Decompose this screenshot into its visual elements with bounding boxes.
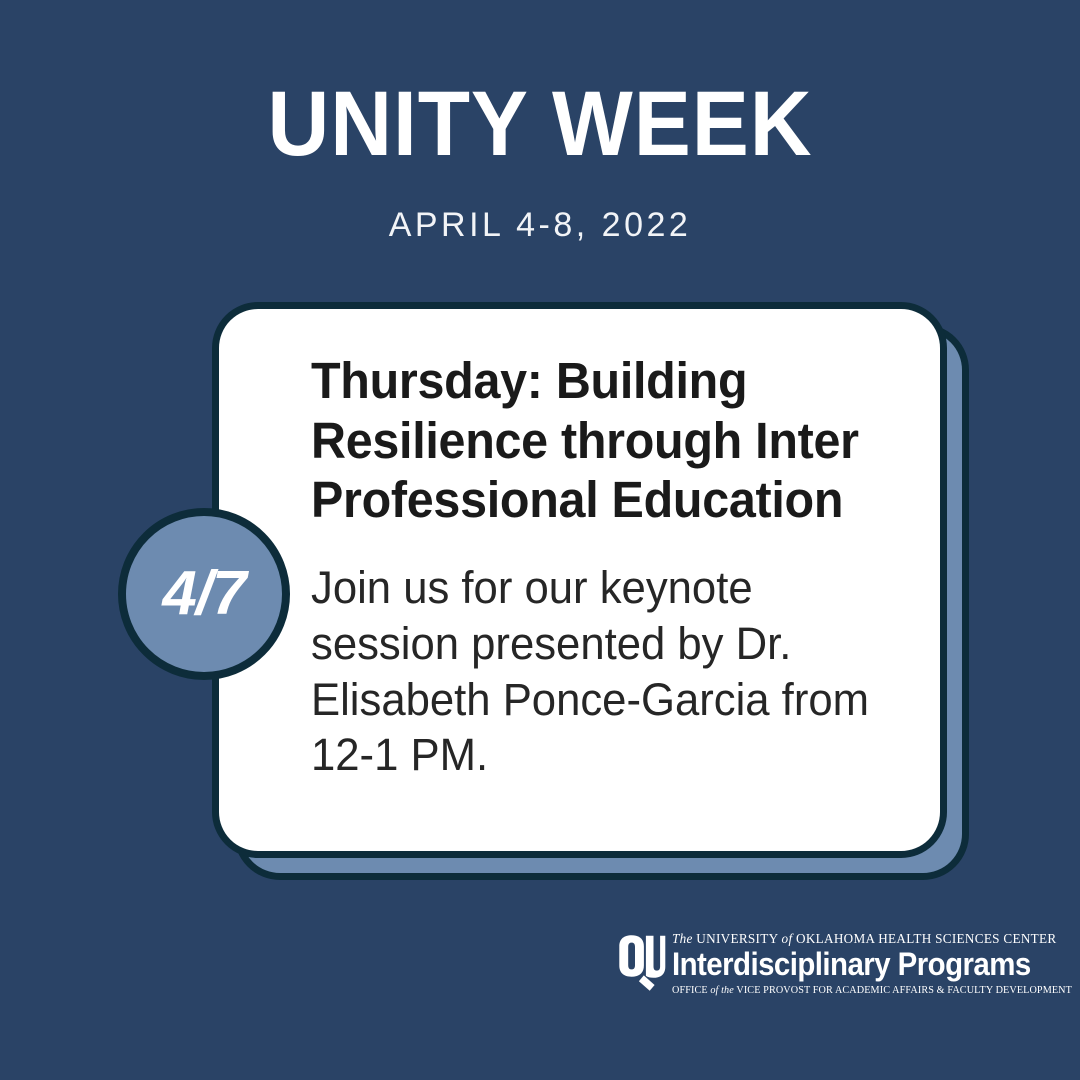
logo-text-block: The UNIVERSITY of OKLAHOMA HEALTH SCIENC… (672, 932, 1072, 996)
logo-oklahoma-words: OKLAHOMA HEALTH SCIENCES CENTER (796, 931, 1056, 946)
logo-office-word: OFFICE (672, 985, 708, 996)
event-description: Join us for our keynote session presente… (311, 530, 871, 783)
date-badge: 4/7 (118, 508, 290, 680)
logo-the-word: The (672, 931, 693, 946)
poster-header: UNITY WEEK APRIL 4-8, 2022 (0, 78, 1080, 245)
poster-canvas: UNITY WEEK APRIL 4-8, 2022 Thursday: Bui… (0, 0, 1080, 1080)
event-title: Thursday: Building Resilience through In… (311, 351, 859, 530)
event-card-stack: Thursday: Building Resilience through In… (212, 302, 977, 880)
date-badge-label: 4/7 (162, 563, 245, 625)
event-card: Thursday: Building Resilience through In… (212, 302, 947, 858)
ou-interdisciplinary-programs-logo: The UNIVERSITY of OKLAHOMA HEALTH SCIENC… (614, 929, 986, 999)
event-date-range: APRIL 4-8, 2022 (0, 170, 1080, 245)
ou-monogram-icon (614, 933, 666, 995)
logo-line-interdisciplinary-programs: Interdisciplinary Programs (672, 948, 1040, 982)
logo-university-word: UNIVERSITY (696, 931, 778, 946)
logo-of-word: of (782, 931, 793, 946)
page-title: UNITY WEEK (38, 78, 1042, 170)
logo-line-office: OFFICE of the VICE PROVOST FOR ACADEMIC … (672, 982, 1072, 996)
logo-of-the-words: of the (710, 985, 734, 996)
logo-vice-provost-words: VICE PROVOST FOR ACADEMIC AFFAIRS & FACU… (736, 985, 1072, 996)
